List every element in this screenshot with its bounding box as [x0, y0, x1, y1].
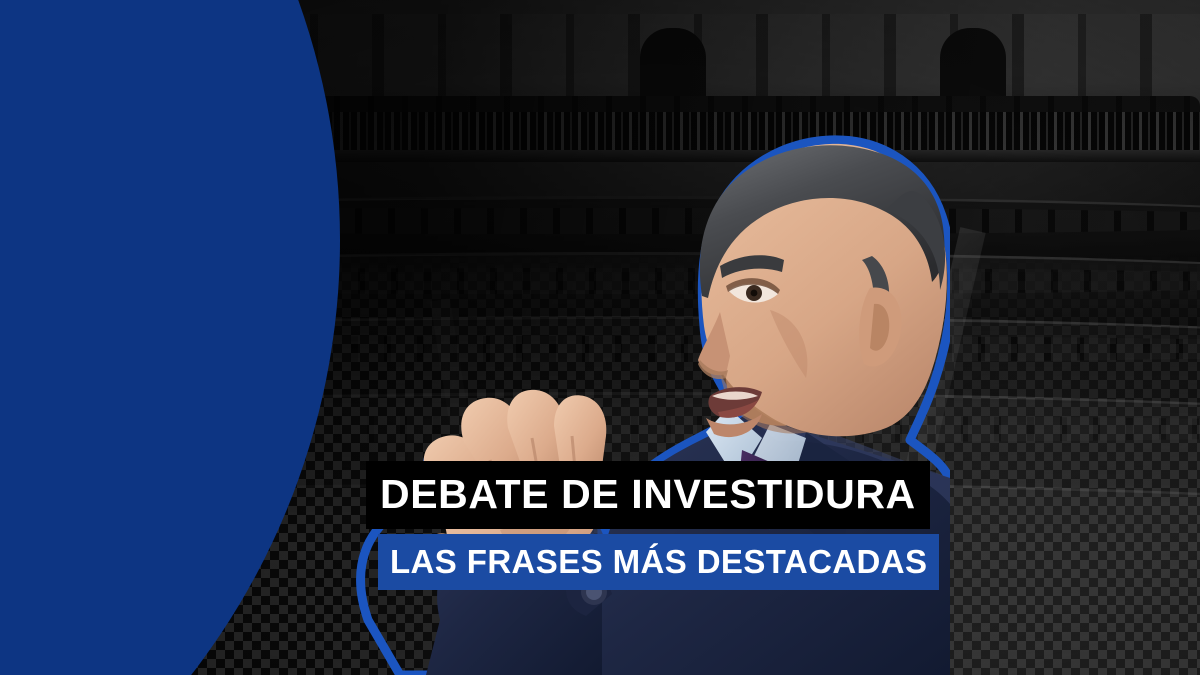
title-block: DEBATE DE INVESTIDURA LAS FRASES MÁS DES… [366, 461, 939, 590]
figure-head [698, 144, 947, 437]
headline-bar: DEBATE DE INVESTIDURA [366, 461, 930, 529]
subheadline-bar: LAS FRASES MÁS DESTACADAS [378, 534, 939, 590]
subheadline-row: LAS FRASES MÁS DESTACADAS [378, 534, 939, 590]
thumbnail-graphic: DEBATE DE INVESTIDURA LAS FRASES MÁS DES… [0, 0, 1200, 675]
